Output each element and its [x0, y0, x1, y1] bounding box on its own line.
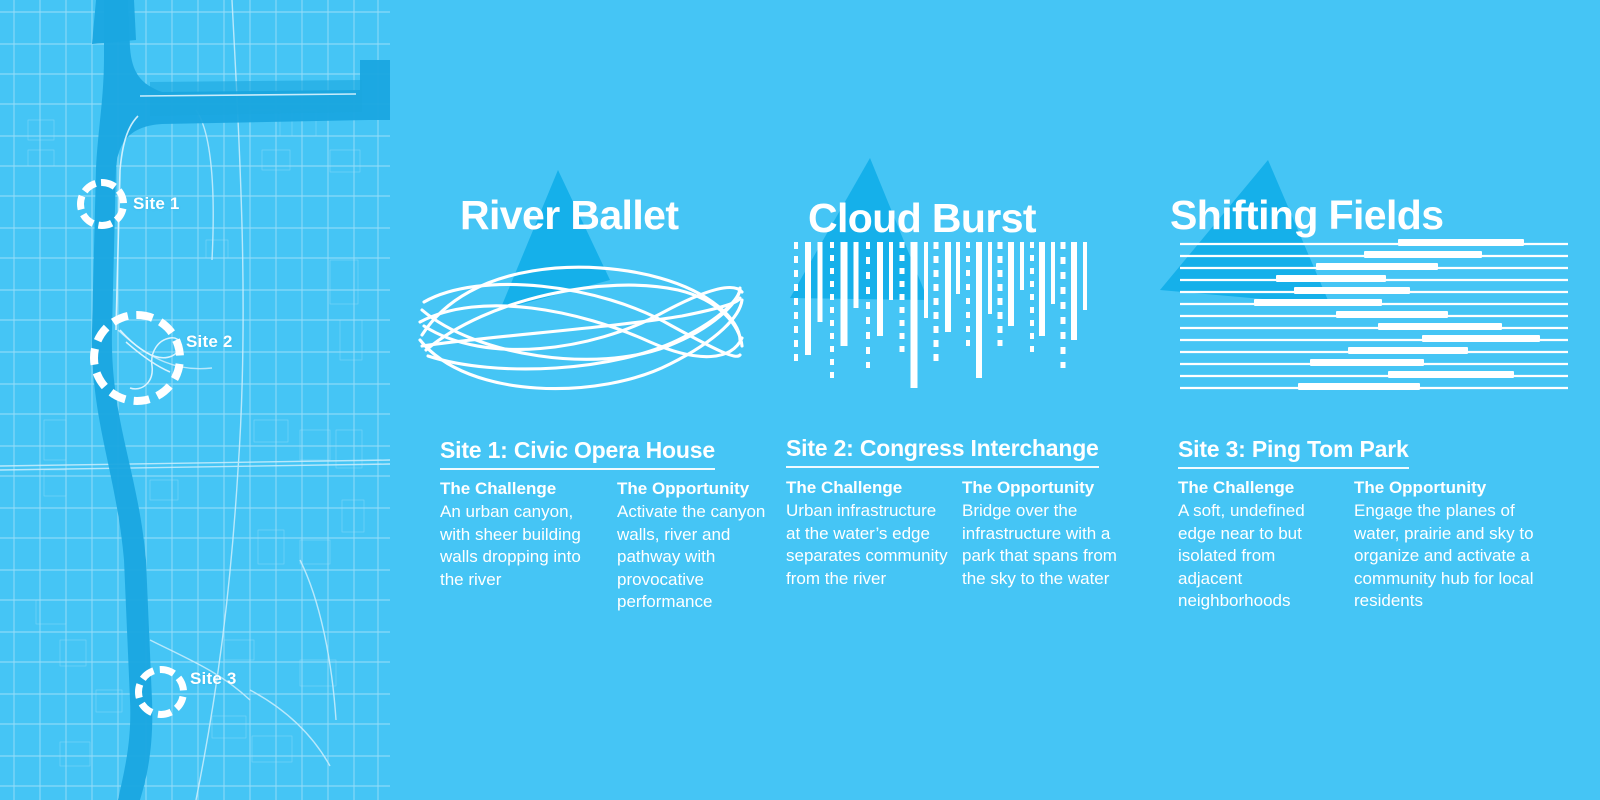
opportunity-block-3: The Opportunity Engage the planes of wat…	[1354, 477, 1550, 612]
opportunity-body-1: Activate the canyon walls, river and pat…	[617, 501, 787, 613]
challenge-block-1: The Challenge An urban canyon, with shee…	[440, 478, 617, 613]
opportunity-heading-3: The Opportunity	[1354, 477, 1550, 498]
site-heading-2: Site 2: Congress Interchange	[786, 436, 1099, 468]
challenge-block-3: The Challenge A soft, undefined edge nea…	[1178, 477, 1354, 612]
challenge-body-3: A soft, undefined edge near to but isola…	[1178, 500, 1340, 612]
site-marker-label-site-1: Site 1	[133, 194, 180, 214]
site-marker-site-2[interactable]	[90, 311, 184, 405]
challenge-block-2: The Challenge Urban infrastructure at th…	[786, 477, 962, 590]
site-marker-site-1[interactable]	[77, 179, 127, 229]
concept-title-river-ballet: River Ballet	[460, 195, 678, 236]
site-marker-label-site-2: Site 2	[186, 332, 233, 352]
challenge-heading-2: The Challenge	[786, 477, 948, 498]
downtown-river-map: Site 1 Site 2 Site 3	[0, 0, 390, 800]
detail-columns-3: The Challenge A soft, undefined edge nea…	[1178, 477, 1578, 612]
detail-columns-2: The Challenge Urban infrastructure at th…	[786, 477, 1138, 590]
challenge-heading-3: The Challenge	[1178, 477, 1340, 498]
challenge-heading-1: The Challenge	[440, 478, 603, 499]
challenge-body-1: An urban canyon, with sheer building wal…	[440, 501, 603, 591]
concept-cloud-burst: Cloud Burst Site 2: Congress Interchange…	[778, 0, 1138, 800]
site-marker-label-site-3: Site 3	[190, 669, 237, 689]
concept-river-ballet: River Ballet Site 1: Civic Opera House T…	[410, 0, 770, 800]
challenge-body-2: Urban infrastructure at the water’s edge…	[786, 500, 948, 590]
opportunity-block-2: The Opportunity Bridge over the infrastr…	[962, 477, 1134, 590]
opportunity-heading-2: The Opportunity	[962, 477, 1134, 498]
site-heading-1: Site 1: Civic Opera House	[440, 438, 715, 470]
opportunity-body-2: Bridge over the infrastructure with a pa…	[962, 500, 1134, 590]
concept-columns: River Ballet Site 1: Civic Opera House T…	[390, 0, 1600, 800]
detail-columns-1: The Challenge An urban canyon, with shee…	[440, 478, 790, 613]
opportunity-body-3: Engage the planes of water, prairie and …	[1354, 500, 1550, 612]
opportunity-block-1: The Opportunity Activate the canyon wall…	[617, 478, 787, 613]
site-heading-3: Site 3: Ping Tom Park	[1178, 437, 1409, 469]
opportunity-heading-1: The Opportunity	[617, 478, 787, 499]
art-vertical-rain-bars	[778, 150, 1138, 405]
concept-title-shifting-fields: Shifting Fields	[1170, 195, 1443, 236]
poster-board: Site 1 Site 2 Site 3	[0, 0, 1600, 800]
concept-shifting-fields: Shifting Fields Site 3: Ping Tom Park Th…	[1150, 0, 1590, 800]
art-interlacing-curves	[410, 150, 770, 405]
concept-title-cloud-burst: Cloud Burst	[808, 198, 1036, 239]
art-horizontal-field-bands	[1150, 150, 1590, 405]
site-marker-site-3[interactable]	[135, 666, 187, 718]
